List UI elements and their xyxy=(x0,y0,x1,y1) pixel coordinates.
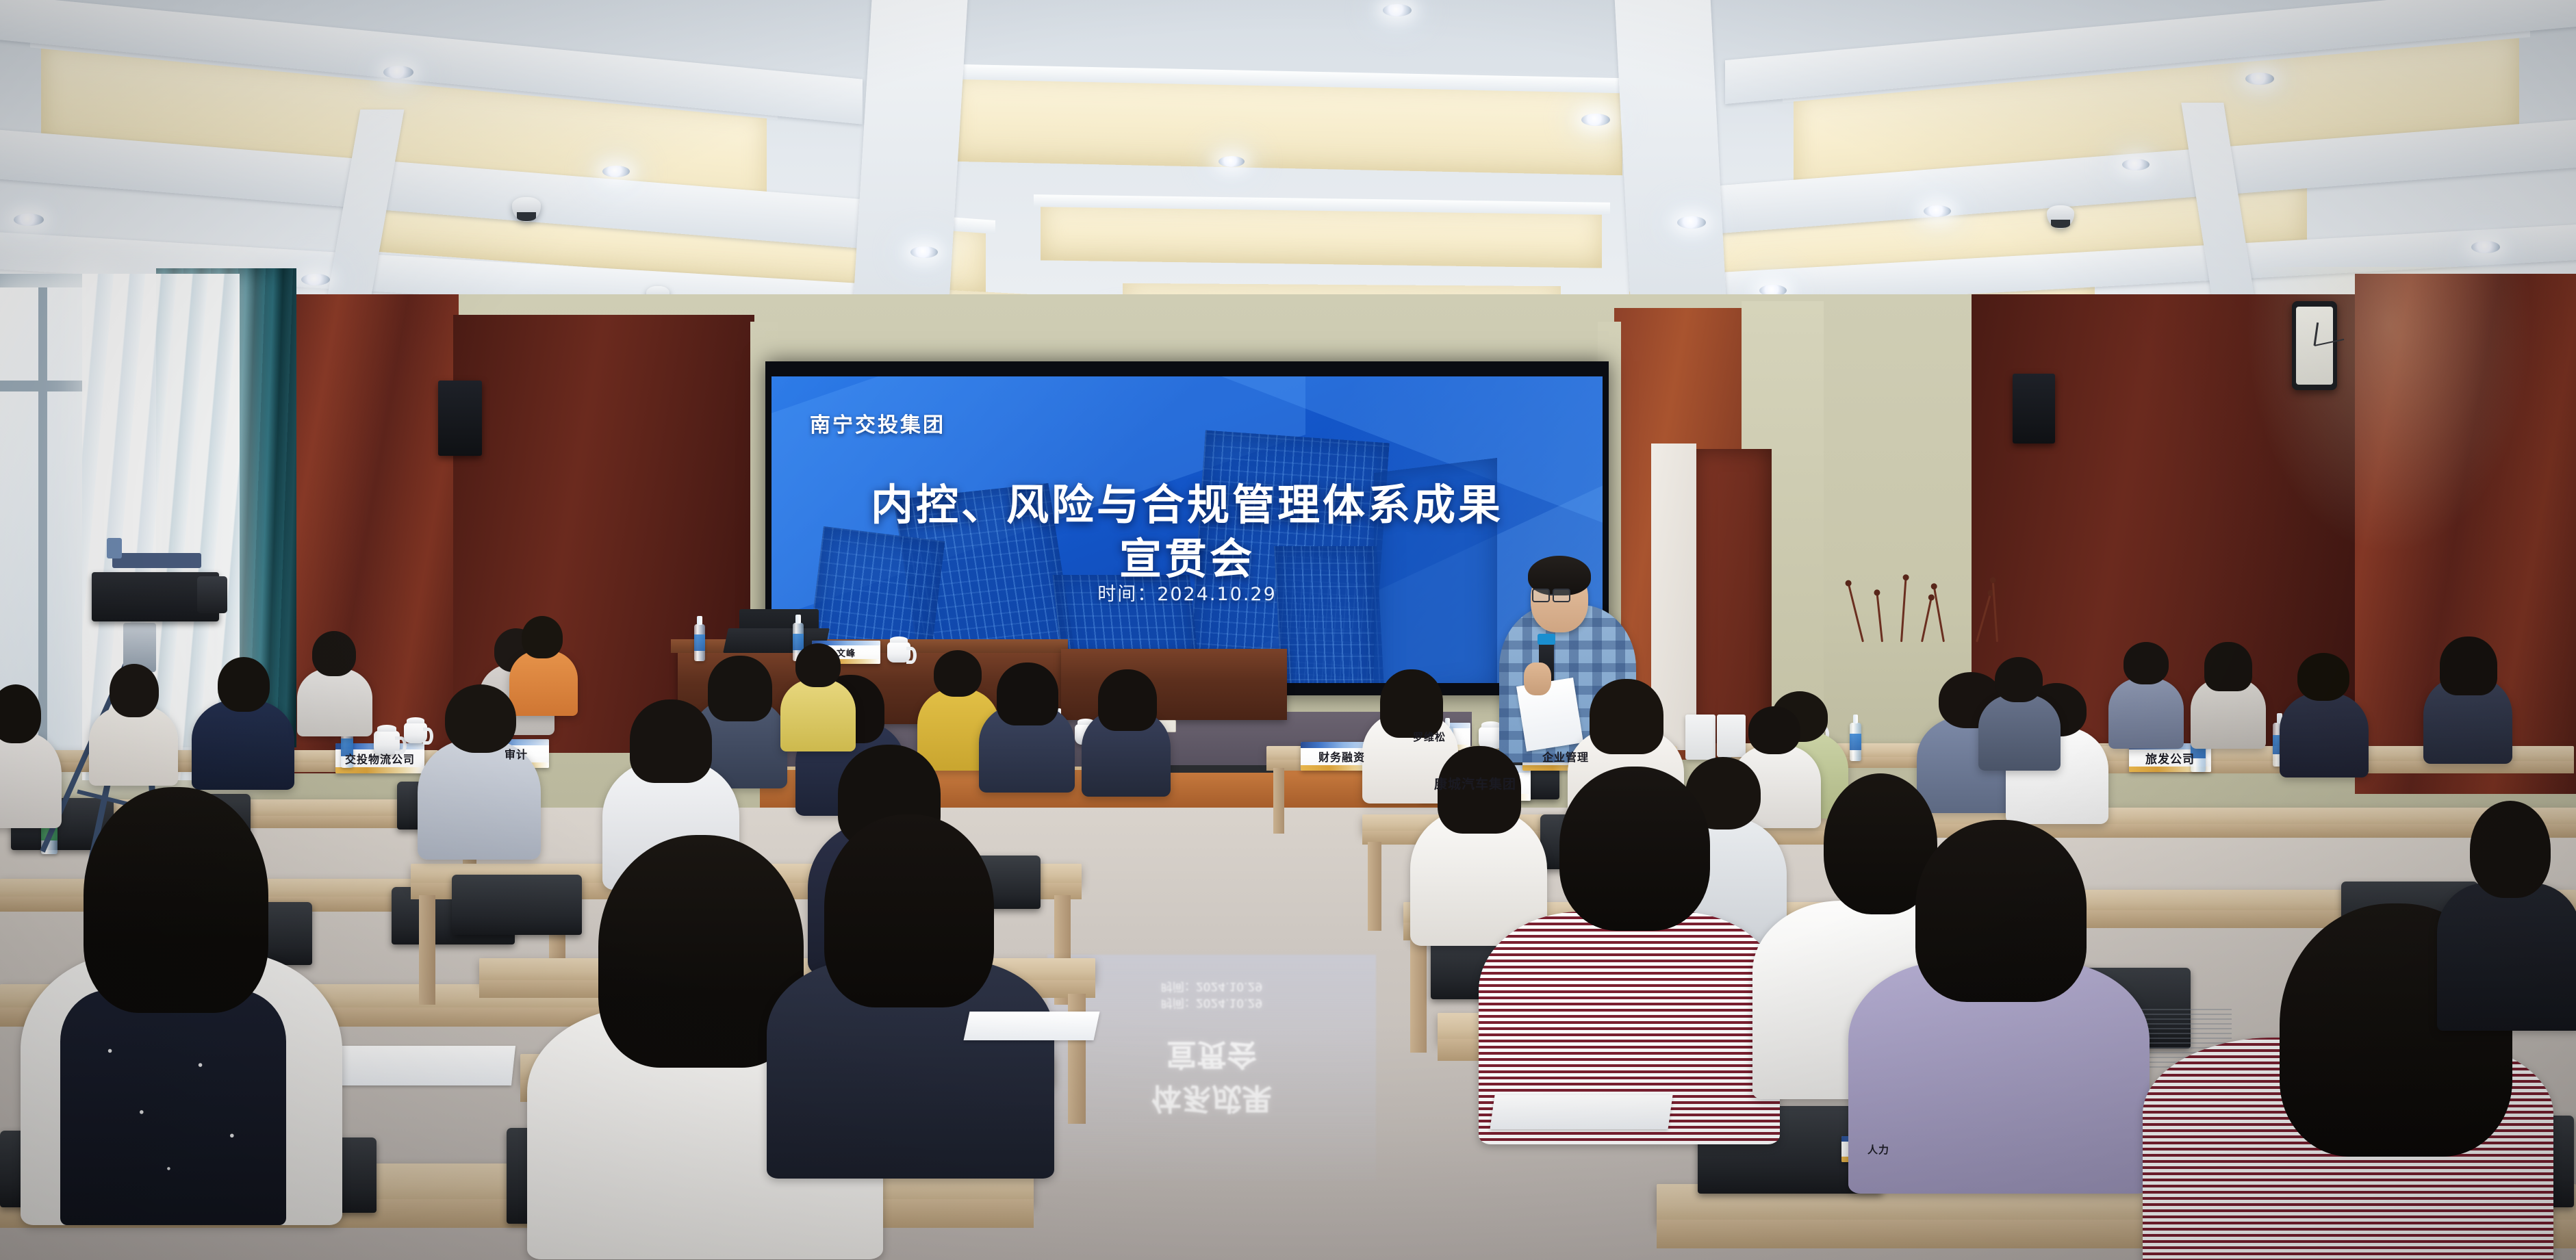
audience-member xyxy=(2423,637,2512,760)
decorative-branches xyxy=(1855,567,2033,642)
camera-mic xyxy=(107,538,122,558)
audience-member xyxy=(2437,801,2576,1027)
navy-pinafore xyxy=(60,990,286,1225)
audience-member xyxy=(979,663,1075,789)
slide-title: 内控、风险与合规管理体系成果 宣贯会 xyxy=(771,478,1603,587)
ceiling-downlight xyxy=(301,274,330,285)
ceiling-beam-vertical xyxy=(1614,0,1727,308)
glasses-icon xyxy=(1532,589,1550,602)
hair xyxy=(824,814,994,1007)
ceiling-downlight xyxy=(1924,205,1951,217)
waste-bin xyxy=(1685,715,1716,760)
ceiling-downlight xyxy=(1219,156,1245,167)
audience-member xyxy=(2191,642,2266,745)
audience-member xyxy=(1082,669,1171,793)
ceiling-downlight xyxy=(2245,73,2274,85)
ceiling-downlight xyxy=(2122,159,2150,170)
audience-member xyxy=(89,664,178,780)
slide-title-line2: 宣贯会 xyxy=(771,532,1603,586)
paper-document xyxy=(1490,1095,1672,1129)
glasses-icon xyxy=(1553,589,1570,602)
hair xyxy=(84,787,268,1013)
desk-leg xyxy=(1368,842,1381,931)
ceiling-downlight xyxy=(910,246,938,258)
hair xyxy=(1915,820,2087,1002)
water-bottle xyxy=(1850,723,1861,761)
ceiling-downlight xyxy=(14,214,44,226)
audience-member xyxy=(780,643,856,746)
slide-title-line1: 内控、风险与合规管理体系成果 xyxy=(771,478,1603,532)
teacup xyxy=(887,642,910,663)
wall-clock xyxy=(2292,301,2337,390)
audience-member xyxy=(0,684,62,821)
wall-speaker xyxy=(438,381,482,456)
hair xyxy=(1559,767,1710,931)
desk-leg xyxy=(1410,936,1427,1053)
wall-speaker xyxy=(2013,374,2055,443)
reflection-line: 时间：2024.10.29 xyxy=(1047,996,1376,1013)
ceiling-beam-vertical xyxy=(852,0,968,315)
audience-member xyxy=(2280,653,2369,773)
ceiling-downlight xyxy=(1677,216,1706,229)
paper-document xyxy=(964,1012,1100,1040)
ceiling-downlight xyxy=(1383,4,1412,16)
desk-leg xyxy=(1273,768,1284,834)
camera-handle xyxy=(112,553,201,568)
reflection-line: 体系成果 xyxy=(1047,1079,1376,1123)
desk-leg xyxy=(419,895,435,1005)
audience-member xyxy=(297,631,372,734)
presenter-hand xyxy=(1524,663,1551,695)
ceiling-downlight xyxy=(602,166,630,177)
conference-room-photo: 南宁交投集团 内控、风险与合规管理体系成果 宣贯会 时间：2024.10.29 … xyxy=(0,0,2576,1260)
audience-member xyxy=(1978,657,2061,767)
camera-lens xyxy=(197,576,227,613)
slide-date: 时间：2024.10.29 xyxy=(771,579,1603,606)
reflection-line: 时间：2024.10.29 xyxy=(1047,979,1376,997)
audience-member xyxy=(418,684,541,856)
audience-member-foreground xyxy=(767,814,1054,1170)
microphone-band xyxy=(1538,634,1555,645)
ceiling-downlight xyxy=(1581,114,1610,126)
clock-face xyxy=(2296,307,2333,385)
audience-member xyxy=(192,657,294,787)
audience-member-foreground xyxy=(21,787,342,1211)
glasses-bridge xyxy=(1550,594,1554,595)
ceiling-downlight xyxy=(383,66,413,79)
audience-member xyxy=(2108,642,2184,745)
ceiling-downlight xyxy=(2471,241,2500,253)
audience-member-foreground xyxy=(1848,820,2150,1183)
slide-logo: 南宁交投集团 xyxy=(810,408,945,438)
floor-projection-reflection: 时间：2024.10.29 时间：2024.10.29 宣贯会 体系成果 xyxy=(1047,955,1376,1181)
audience-member-foreground xyxy=(1479,767,1780,1136)
reflection-line: 宣贯会 xyxy=(1047,1036,1376,1079)
